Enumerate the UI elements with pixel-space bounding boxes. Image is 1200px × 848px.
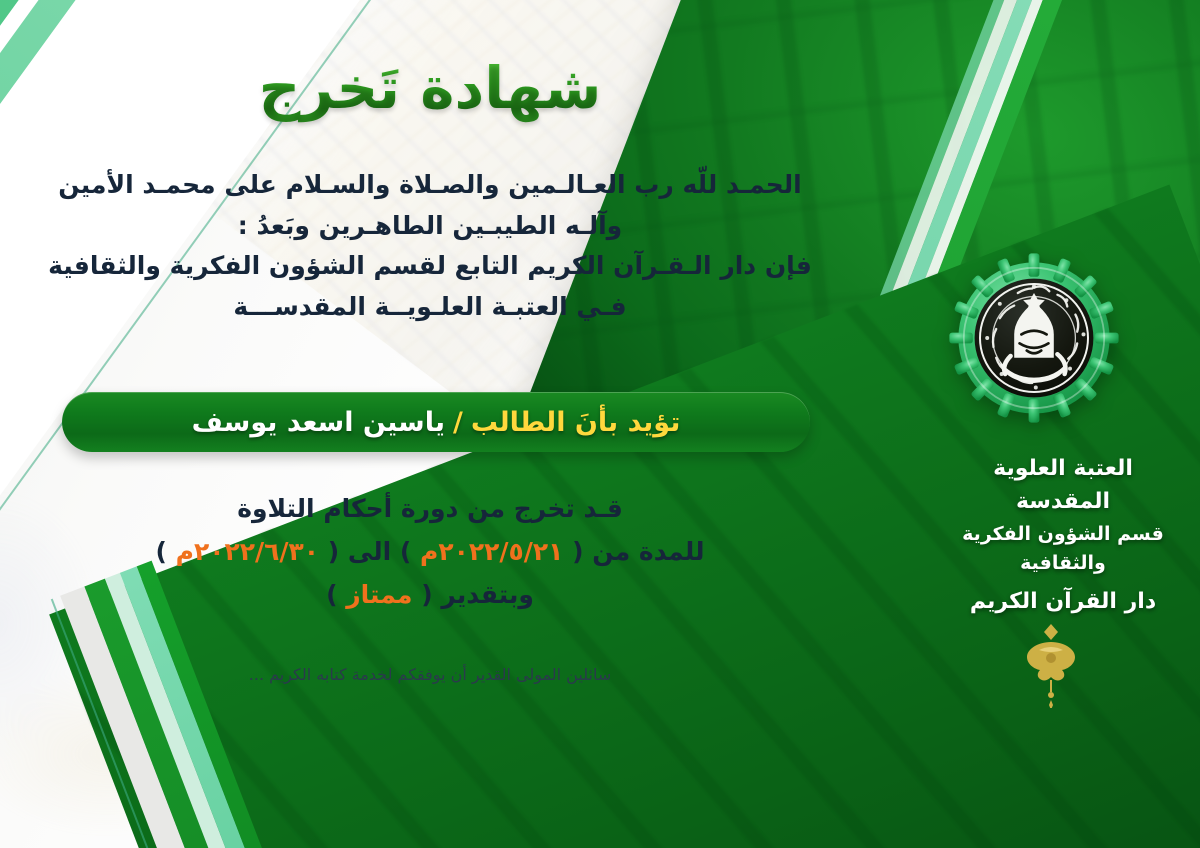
preamble-line-3: فإن دار الـقـرآن الكريم التابع لقسم الشؤ… — [20, 246, 840, 287]
org-line-1: العتبة العلوية المقدسة — [944, 452, 1182, 518]
organization-calligraphy: العتبة العلوية المقدسة قسم الشؤون الفكري… — [944, 452, 1182, 618]
course-line: قـد تخرج من دورة أحكام التلاوة — [30, 487, 830, 530]
period-prefix: للمدة من ( — [572, 537, 704, 566]
grade-line: وبتقدير ( ممتاز ) — [30, 573, 830, 616]
period-suffix: ) — [155, 537, 166, 566]
certificate-title: شهادة تَخرج — [0, 52, 860, 125]
date-from: ٢٠٢٢/٥/٢١م — [420, 537, 563, 566]
period-middle: ) الى ( — [328, 537, 412, 566]
org-line-2: قسم الشؤون الفكرية والثقافية — [944, 520, 1182, 577]
gold-ornament-icon — [1014, 622, 1088, 708]
student-name: ياسين اسعد يوسف — [192, 407, 445, 438]
org-line-3: دار القرآن الكريم — [944, 585, 1182, 618]
grade-prefix: وبتقدير ( — [421, 580, 534, 609]
banner-separator: / — [453, 407, 463, 438]
date-to: ٢٠٢٢/٦/٣٠م — [176, 537, 319, 566]
preamble-line-1: الحمـد للّه رب العـالـمين والصـلاة والسـ… — [20, 165, 840, 206]
preamble-line-2: وآلـه الطيبـين الطاهـرين وبَعدُ : — [20, 206, 840, 247]
period-line: للمدة من ( ٢٠٢٢/٥/٢١م ) الى ( ٢٠٢٢/٦/٣٠م… — [30, 530, 830, 573]
official-seal-icon — [944, 248, 1124, 428]
preamble-text: الحمـد للّه رب العـالـمين والصـلاة والسـ… — [20, 165, 840, 327]
grade-suffix: ) — [326, 580, 337, 609]
certificate-content: شهادة تَخرج الحمـد للّه رب العـالـمين وا… — [0, 0, 1200, 848]
closing-note: سائلين المولى القدير أن يوفقكم لخدمة كتا… — [40, 665, 820, 684]
banner-label: تؤيد بأنَ الطالب — [471, 407, 680, 438]
course-details: قـد تخرج من دورة أحكام التلاوة للمدة من … — [30, 487, 830, 616]
student-name-banner: تؤيد بأنَ الطالب / ياسين اسعد يوسف — [62, 392, 810, 452]
certificate-page: شهادة تَخرج الحمـد للّه رب العـالـمين وا… — [0, 0, 1200, 848]
preamble-line-4: فـي العتبـة العلـويــة المقدســـة — [20, 287, 840, 328]
grade-value: ممتاز — [346, 580, 412, 609]
